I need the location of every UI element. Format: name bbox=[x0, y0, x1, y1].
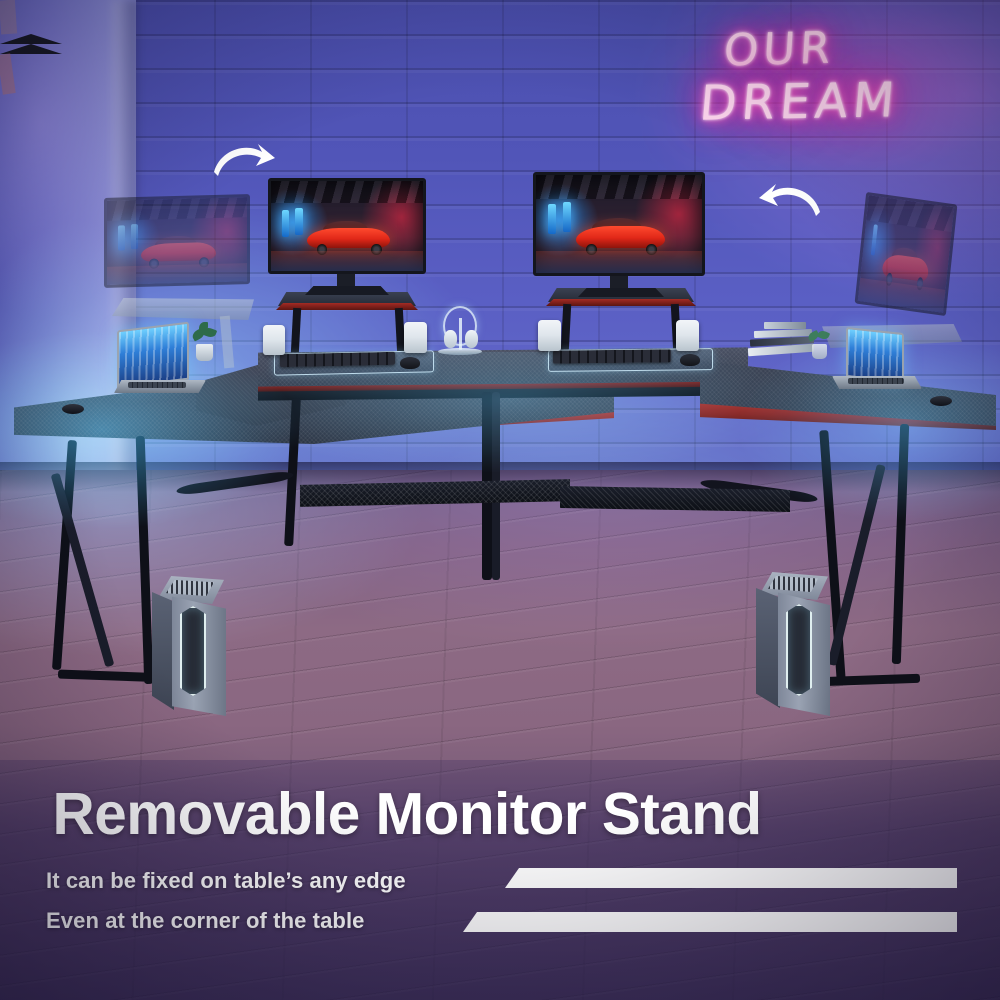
plant-left-pot bbox=[196, 344, 213, 361]
book-4 bbox=[764, 322, 806, 329]
speaker-3 bbox=[538, 320, 561, 351]
desk-puck-right bbox=[930, 396, 952, 406]
keyboard-left bbox=[280, 352, 395, 367]
pc-tower-left-side bbox=[152, 592, 174, 710]
speaker-4 bbox=[676, 320, 699, 351]
pc-tower-right-led-hex bbox=[786, 604, 812, 696]
monitor-center-left bbox=[268, 178, 426, 274]
monitor-ghost-left bbox=[104, 194, 250, 288]
pc-tower-right-side bbox=[756, 588, 780, 708]
plant-right-pot bbox=[812, 344, 827, 359]
laptop-right-screen bbox=[846, 327, 904, 383]
monitor-ghost-left-neck bbox=[0, 0, 17, 35]
headphone-stand-base bbox=[438, 348, 482, 355]
blue-light-2 bbox=[563, 202, 571, 231]
monitor-ghost-left-screen bbox=[104, 194, 250, 288]
garage-floor-glow bbox=[536, 251, 702, 273]
monitor-center-right-base bbox=[578, 288, 664, 297]
monitor-center-left-neck bbox=[337, 274, 355, 288]
arrow-pointing-to-stand-position-icon bbox=[212, 142, 276, 184]
blue-light-1 bbox=[118, 226, 125, 251]
monitor-ghost-right bbox=[855, 192, 958, 316]
neon-sign: OUR DREAM bbox=[700, 18, 990, 140]
caption-panel: Removable Monitor Stand It can be fixed … bbox=[0, 760, 1000, 1000]
accent-bar-1 bbox=[505, 868, 957, 888]
speaker-2 bbox=[404, 322, 427, 353]
monitor-ghost-right-screen bbox=[855, 192, 958, 316]
headphone-cup-left bbox=[444, 330, 457, 348]
arrow-pointing-to-corner-position-icon bbox=[758, 182, 822, 224]
laptop-left-screen bbox=[117, 322, 189, 389]
accent-bar-2 bbox=[463, 912, 957, 932]
pc-tower-left-vent bbox=[166, 580, 214, 596]
desk-mesh-shelf-right bbox=[560, 486, 790, 512]
desk-puck-left bbox=[62, 404, 84, 414]
garage-ceiling bbox=[107, 197, 247, 221]
blue-light-1 bbox=[548, 204, 556, 233]
blue-light-1 bbox=[282, 210, 290, 237]
monitor-center-right-screen bbox=[533, 172, 705, 276]
mouse-right bbox=[680, 354, 700, 366]
blue-light-1 bbox=[870, 224, 878, 256]
blue-light-2 bbox=[295, 208, 303, 235]
keyboard-right bbox=[553, 349, 671, 363]
neon-text-line-1: OUR bbox=[722, 23, 836, 77]
laptop-left-keyboard bbox=[128, 382, 186, 388]
neon-text-line-2: DREAM bbox=[697, 72, 901, 131]
blue-light-2 bbox=[131, 224, 138, 249]
page-title: Removable Monitor Stand bbox=[53, 785, 954, 844]
headphone-stand-post bbox=[459, 318, 462, 350]
laptop-right-keyboard bbox=[848, 378, 904, 384]
pc-tower-left-led-hex bbox=[180, 606, 206, 696]
mouse-left bbox=[400, 357, 420, 369]
monitor-center-left-screen bbox=[268, 178, 426, 274]
product-lifestyle-image: OUR DREAM bbox=[0, 0, 1000, 1000]
speaker-1 bbox=[263, 325, 285, 355]
garage-ceiling bbox=[271, 181, 423, 203]
headphone-cup-right bbox=[465, 330, 478, 348]
monitor-center-right bbox=[533, 172, 705, 276]
garage-ceiling bbox=[536, 175, 702, 199]
subtitle-line-2: Even at the corner of the table bbox=[46, 908, 365, 934]
garage-floor-glow bbox=[271, 251, 423, 271]
monitor-center-left-base bbox=[305, 286, 389, 295]
subtitle-line-1: It can be fixed on table’s any edge bbox=[46, 868, 406, 894]
garage-floor-glow bbox=[107, 263, 247, 285]
monitor-center-right-neck bbox=[610, 276, 628, 290]
